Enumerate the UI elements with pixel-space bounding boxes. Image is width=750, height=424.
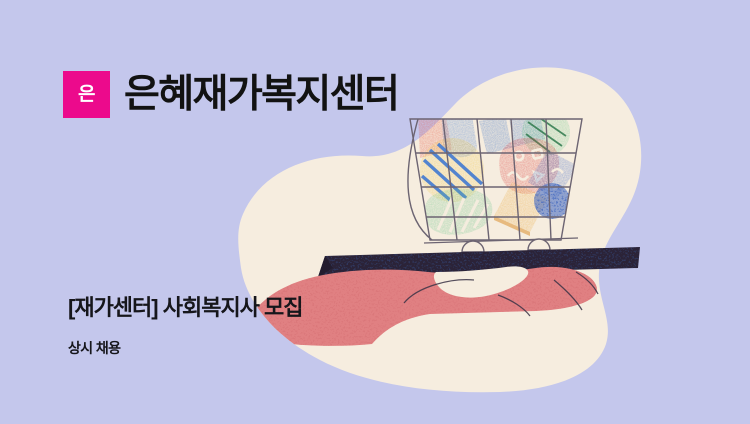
- recruitment-banner: 은 은혜재가복지센터 [재가센터] 사회복지사 모집 상시 채용: [0, 0, 750, 424]
- logo-mark-square: 은: [63, 71, 110, 118]
- subline-text: 상시 채용: [68, 340, 120, 357]
- brand-logo-row: 은 은혜재가복지센터: [63, 71, 398, 118]
- logo-mark-text: 은: [78, 85, 95, 104]
- banner-content: 은 은혜재가복지센터 [재가센터] 사회복지사 모집 상시 채용: [0, 0, 750, 424]
- headline-text: [재가센터] 사회복지사 모집: [68, 295, 303, 321]
- brand-name-text: 은혜재가복지센터: [124, 75, 398, 114]
